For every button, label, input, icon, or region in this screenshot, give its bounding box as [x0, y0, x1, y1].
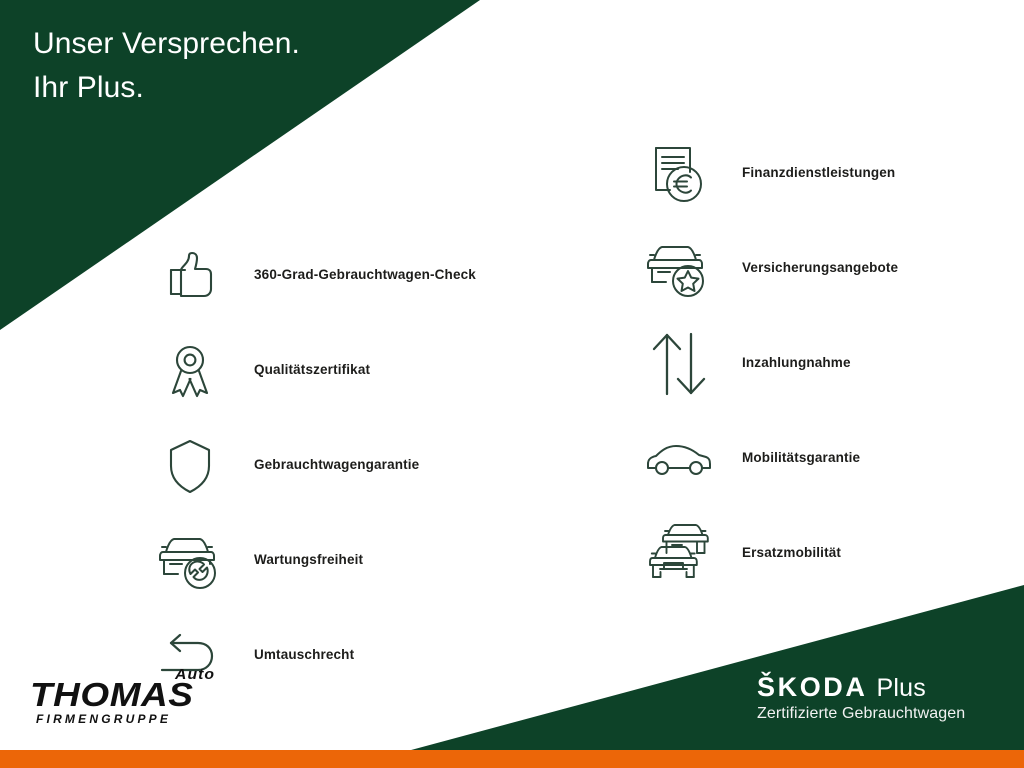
thumbs-up-icon — [140, 236, 240, 316]
feature-label: Inzahlungnahme — [728, 355, 851, 371]
feature-label: Qualitätszertifikat — [240, 362, 370, 378]
feature-item: Ersatzmobilität — [628, 506, 1018, 601]
award-rosette-icon — [140, 331, 240, 411]
feature-item: Mobilitätsgarantie — [628, 411, 1018, 506]
document-euro-icon — [628, 134, 728, 214]
car-side-icon — [628, 419, 728, 499]
car-wrench-icon — [140, 521, 240, 601]
skoda-plus-brand-lockup: ŠKODA Plus Zertifizierte Gebrauchtwagen — [757, 672, 965, 723]
brand-name-row: ŠKODA Plus — [757, 672, 965, 703]
feature-item: 360-Grad-Gebrauchtwagen-Check — [140, 228, 560, 323]
up-down-arrows-icon — [628, 324, 728, 404]
shield-icon — [140, 426, 240, 506]
feature-item: Qualitätszertifikat — [140, 323, 560, 418]
feature-item: Inzahlungnahme — [628, 316, 1018, 411]
feature-item: Finanzdienstleistungen — [628, 126, 1018, 221]
dealer-logo-tagline: FIRMENGRUPPE — [36, 712, 171, 726]
feature-label: Ersatzmobilität — [728, 545, 841, 561]
feature-list-right: Finanzdienstleistungen Versicherungsange… — [628, 126, 1018, 601]
dealer-logo: Auto THOMAS FIRMENGRUPPE — [30, 666, 230, 732]
feature-item: Gebrauchtwagengarantie — [140, 418, 560, 513]
headline: Unser Versprechen. Ihr Plus. — [33, 22, 300, 109]
car-star-icon — [628, 229, 728, 309]
promo-banner: Unser Versprechen. Ihr Plus. 360-Grad-Ge… — [0, 0, 1024, 768]
feature-list-left: 360-Grad-Gebrauchtwagen-Check Qualitätsz… — [140, 228, 560, 703]
feature-label: Gebrauchtwagengarantie — [240, 457, 419, 473]
brand-suffix: Plus — [877, 674, 926, 703]
feature-label: Mobilitätsgarantie — [728, 450, 860, 466]
feature-label: Umtauschrecht — [240, 647, 354, 663]
feature-item: Wartungsfreiheit — [140, 513, 560, 608]
two-cars-icon — [628, 514, 728, 594]
orange-accent-bar — [0, 750, 1024, 768]
feature-label: Wartungsfreiheit — [240, 552, 363, 568]
feature-label: Versicherungsangebote — [728, 260, 898, 276]
feature-item: Versicherungsangebote — [628, 221, 1018, 316]
feature-label: 360-Grad-Gebrauchtwagen-Check — [240, 267, 476, 283]
brand-name: ŠKODA — [757, 672, 868, 703]
brand-subtitle: Zertifizierte Gebrauchtwagen — [757, 705, 965, 723]
dealer-logo-name: THOMAS — [30, 676, 194, 714]
feature-label: Finanzdienstleistungen — [728, 165, 895, 181]
